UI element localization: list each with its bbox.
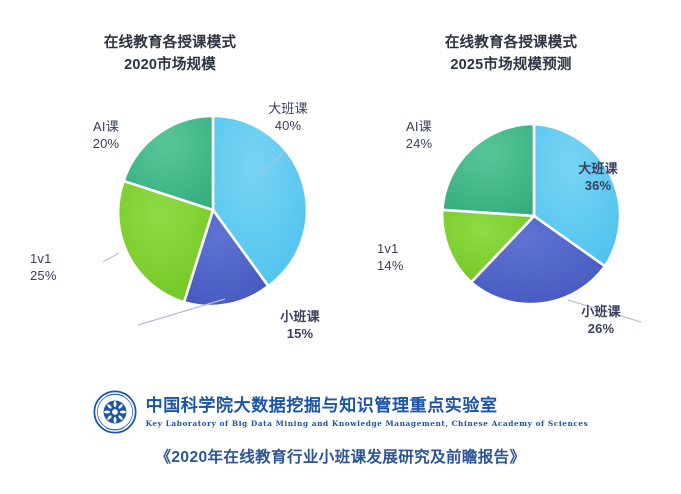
chart-title-line1: 在线教育各授课模式 <box>0 32 340 54</box>
chart-title-2020: 在线教育各授课模式 2020市场规模 <box>0 32 340 76</box>
pie-label-pct: 24% <box>388 135 450 152</box>
pie-chart-2025 <box>436 118 632 314</box>
pie-label-name: 大班课 <box>248 100 328 117</box>
pie-label-name: AI课 <box>75 118 137 135</box>
pie-label-name: AI课 <box>388 118 450 135</box>
pie-label-name: 大班课 <box>556 160 640 177</box>
pie-label-one-on-one-2025: 1v1 14% <box>377 240 435 274</box>
report-title: 《2020年在线教育行业小班课发展研究及前瞻报告》 <box>0 445 681 467</box>
chart-panel-2025: 在线教育各授课模式 2025市场规模预测 <box>341 0 681 380</box>
pie-label-pct: 40% <box>248 117 328 134</box>
leader-line-small-class <box>138 299 225 325</box>
pie-svg-2020 <box>113 110 313 310</box>
pie-label-one-on-one-2020: 1v1 25% <box>30 250 88 284</box>
pie-label-big-class-2020: 大班课 40% <box>248 100 328 134</box>
pie-label-name: 小班课 <box>260 308 340 325</box>
pie-label-small-class-2020: 小班课 15% <box>260 308 340 342</box>
pie-label-ai-class-2020: AI课 20% <box>75 118 137 152</box>
chart-title-line1: 在线教育各授课模式 <box>341 32 681 54</box>
leader-line-one-on-one <box>103 253 119 262</box>
pie-label-ai-class-2025: AI课 24% <box>388 118 450 152</box>
chart-panel-2020: 在线教育各授课模式 2020市场规模 <box>0 0 340 380</box>
pie-label-pct: 15% <box>260 325 340 342</box>
pie-chart-2020 <box>113 110 313 310</box>
pie-label-name: 1v1 <box>377 240 435 257</box>
pie-label-name: 小班课 <box>559 303 643 320</box>
pie-slice-ai-class-wedge <box>442 124 534 216</box>
chart-title-line2: 2020市场规模 <box>0 54 340 76</box>
pie-label-name: 1v1 <box>30 250 88 267</box>
chart-title-2025: 在线教育各授课模式 2025市场规模预测 <box>341 32 681 76</box>
lab-logo-row: 中国科学院大数据挖掘与知识管理重点实验室 Key Laboratory of B… <box>0 390 681 434</box>
pie-svg-2025 <box>436 118 632 314</box>
lab-name-en: Key Laboratory of Big Data Mining and Kn… <box>146 418 589 429</box>
footer: 中国科学院大数据挖掘与知识管理重点实验室 Key Laboratory of B… <box>0 382 681 494</box>
lab-text-block: 中国科学院大数据挖掘与知识管理重点实验室 Key Laboratory of B… <box>146 396 589 429</box>
pie-label-pct: 36% <box>556 177 640 194</box>
pie-label-big-class-2025: 大班课 36% <box>556 160 640 194</box>
lab-name-cn: 中国科学院大数据挖掘与知识管理重点实验室 <box>146 396 589 416</box>
slide-canvas: 在线教育各授课模式 2020市场规模 <box>0 0 681 494</box>
pie-label-pct: 25% <box>30 267 88 284</box>
pie-label-small-class-2025: 小班课 26% <box>559 303 643 337</box>
chart-title-line2: 2025市场规模预测 <box>341 54 681 76</box>
pie-label-pct: 20% <box>75 135 137 152</box>
pie-label-pct: 14% <box>377 257 435 274</box>
pie-label-pct: 26% <box>559 320 643 337</box>
cas-seal-icon <box>93 390 137 434</box>
